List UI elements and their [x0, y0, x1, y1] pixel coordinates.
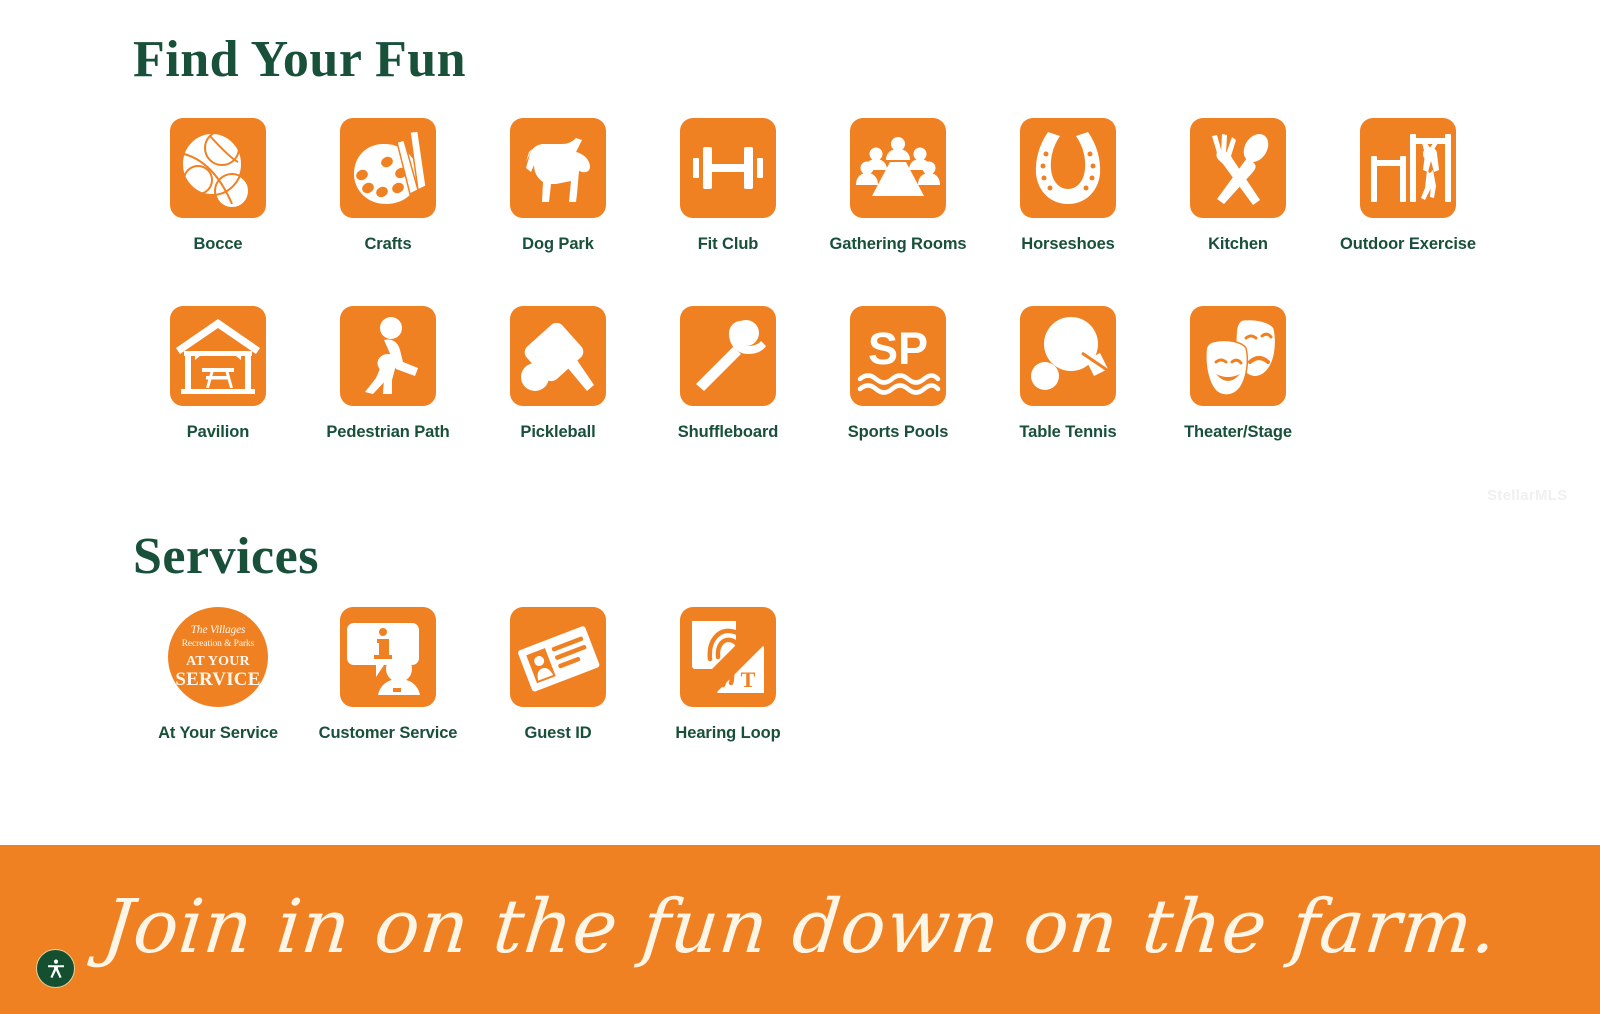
find-your-fun-title: Find Your Fun: [133, 30, 466, 90]
amenity-tile-pickleball[interactable]: Pickleball: [473, 306, 643, 442]
amenity-tile-pedestrian-path[interactable]: Pedestrian Path: [303, 306, 473, 442]
amenity-label: Kitchen: [1208, 235, 1268, 254]
at-your-service-badge-icon: The Villages Recreation & Parks AT YOUR …: [168, 607, 268, 707]
horseshoe-icon: [1020, 118, 1116, 218]
badge-line-2: Recreation & Parks: [182, 640, 255, 650]
amenity-label: Shuffleboard: [678, 423, 779, 442]
pickleball-paddle-icon: [510, 306, 606, 406]
accessibility-widget-button[interactable]: [36, 949, 75, 988]
amenity-tile-shuffleboard[interactable]: Shuffleboard: [643, 306, 813, 442]
hearing-loop-t-letter: T: [741, 667, 756, 692]
fork-and-spoon-icon: [1190, 118, 1286, 218]
hearing-loop-ear-icon: T: [680, 607, 776, 707]
table-tennis-paddle-icon: [1020, 306, 1116, 406]
amenity-label: Theater/Stage: [1184, 423, 1292, 442]
bottom-banner: Join in on the fun down on the farm.: [0, 845, 1600, 1014]
page-root: Find Your Fun: [0, 0, 1600, 1014]
service-label: At Your Service: [158, 724, 278, 743]
amenity-tile-fit-club[interactable]: Fit Club: [643, 118, 813, 254]
stellar-mls-watermark: StellarMLS: [1487, 487, 1568, 504]
sports-pools-sp-waves-icon: SP: [850, 306, 946, 406]
services-title: Services: [133, 527, 319, 587]
amenity-label: Pedestrian Path: [326, 423, 449, 442]
service-tile-hearing-loop[interactable]: T Hearing Loop: [643, 607, 813, 743]
amenity-tile-gathering-rooms[interactable]: Gathering Rooms: [813, 118, 983, 254]
theater-masks-icon: [1190, 306, 1286, 406]
amenity-label: Sports Pools: [848, 423, 949, 442]
amenity-tile-crafts[interactable]: Crafts: [303, 118, 473, 254]
sports-pools-label: SP: [868, 323, 928, 374]
amenity-tile-bocce[interactable]: Bocce: [133, 118, 303, 254]
amenity-tile-table-tennis[interactable]: Table Tennis: [983, 306, 1153, 442]
badge-line-3: AT YOUR: [186, 655, 250, 669]
amenity-label: Fit Club: [698, 235, 759, 254]
amenity-tile-horseshoes[interactable]: Horseshoes: [983, 118, 1153, 254]
amenity-label: Dog Park: [522, 235, 594, 254]
people-at-table-icon: [850, 118, 946, 218]
info-speech-bubble-person-icon: [340, 607, 436, 707]
amenity-tile-theater-stage[interactable]: Theater/Stage: [1153, 306, 1323, 442]
amenity-label: Pickleball: [520, 423, 595, 442]
amenity-tile-outdoor-exercise[interactable]: Outdoor Exercise: [1323, 118, 1493, 254]
dog-icon: [510, 118, 606, 218]
amenity-label: Crafts: [364, 235, 411, 254]
services-grid: The Villages Recreation & Parks AT YOUR …: [133, 607, 1533, 743]
walking-person-icon: [340, 306, 436, 406]
bocce-balls-icon: [170, 118, 266, 218]
service-label: Hearing Loop: [675, 724, 780, 743]
amenity-tile-kitchen[interactable]: Kitchen: [1153, 118, 1323, 254]
amenity-label: Table Tennis: [1019, 423, 1116, 442]
paint-palette-icon: [340, 118, 436, 218]
amenity-label: Pavilion: [187, 423, 249, 442]
service-label: Customer Service: [319, 724, 458, 743]
pavilion-picnic-table-icon: [170, 306, 266, 406]
badge-line-4: SERVICE: [175, 670, 260, 689]
amenity-tile-dog-park[interactable]: Dog Park: [473, 118, 643, 254]
service-tile-guest-id[interactable]: Guest ID: [473, 607, 643, 743]
service-tile-at-your-service[interactable]: The Villages Recreation & Parks AT YOUR …: [133, 607, 303, 743]
dumbbell-icon: [680, 118, 776, 218]
amenity-label: Bocce: [193, 235, 242, 254]
amenity-label: Outdoor Exercise: [1340, 235, 1476, 254]
banner-tagline: Join in on the fun down on the farm.: [99, 890, 1501, 970]
badge-line-1: The Villages: [191, 625, 246, 637]
accessibility-person-icon: [44, 957, 68, 981]
amenity-label: Gathering Rooms: [830, 235, 967, 254]
find-your-fun-grid: Bocce: [133, 118, 1533, 442]
amenity-label: Horseshoes: [1021, 235, 1114, 254]
amenity-tile-sports-pools[interactable]: SP Sports Pools: [813, 306, 983, 442]
id-card-icon: [510, 607, 606, 707]
pull-up-bars-icon: [1360, 118, 1456, 218]
amenity-tile-pavilion[interactable]: Pavilion: [133, 306, 303, 442]
shuffleboard-cue-icon: [680, 306, 776, 406]
service-tile-customer-service[interactable]: Customer Service: [303, 607, 473, 743]
service-label: Guest ID: [524, 724, 591, 743]
